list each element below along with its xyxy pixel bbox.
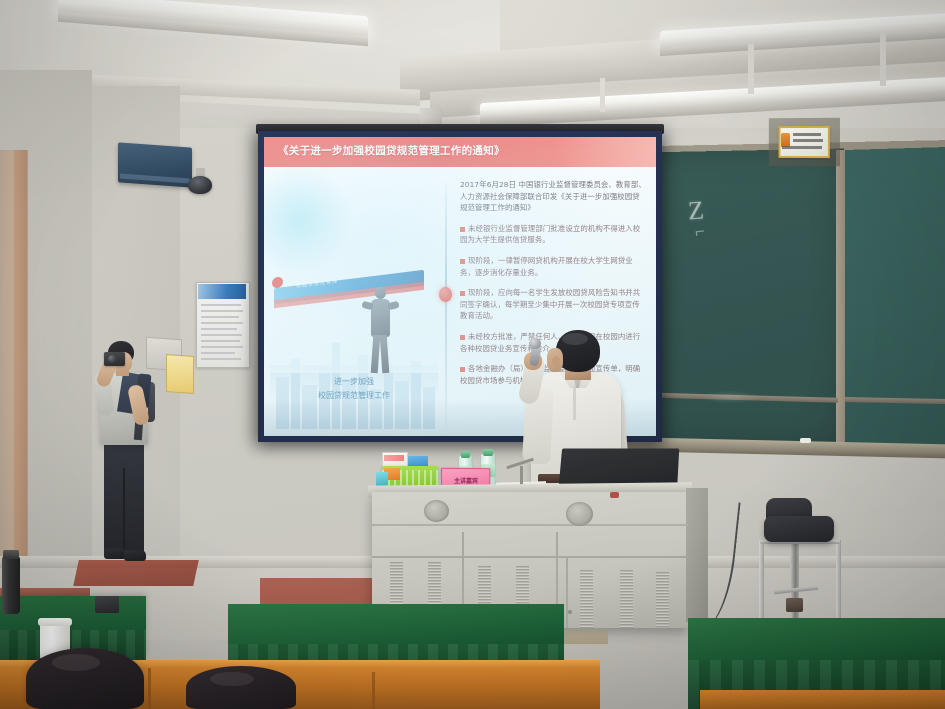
slide-paragraph: 现阶段，一律暂停网贷机构开展在校大学生网贷业务，逐步消化存量业务。 [460,255,646,278]
podium-horizontal-seam [372,556,688,558]
podium-vent [656,572,669,628]
notice-line [201,334,242,336]
silhouette-arm-right [387,301,399,310]
presenter-shirt-placket [573,386,576,420]
caption-line-1: 进一步加强 [284,375,424,389]
paragraph-content: 未经银行业监督管理部门批准设立的机构不得进入校园为大学生提供信贷服务。 [460,224,640,245]
paragraph-text: 未经银行业监督管理部门批准设立的机构不得进入校园为大学生提供信贷服务。 [460,223,646,246]
silhouette-arm-left [361,301,373,310]
slide-paragraph: 未经银行业监督管理部门批准设立的机构不得进入校园为大学生提供信贷服务。 [460,223,646,246]
slide-paragraph: 现阶段，应向每一名学生发放校园贷风险告知书并共同签字确认，每学期至少集中开展一次… [460,287,646,322]
city-fade [270,329,438,373]
notice-line [201,322,243,324]
paragraph-content: 现阶段，应向每一名学生发放校园贷风险告知书并共同签字确认，每学期至少集中开展一次… [460,288,640,320]
photographer-shoe-right [124,550,146,561]
slide-title: 《关于进一步加强校园贷规范管理工作的通知》 [278,143,578,158]
podium-vent [620,570,633,628]
thermos-cap [3,550,19,559]
silhouette-leg-left [371,335,381,373]
notice-line [201,328,237,330]
floor-carpet-left [73,560,199,586]
paragraph-text: 现阶段，应向每一名学生发放校园贷风险告知书并共同签字确认，每学期至少集中开展一次… [460,287,646,322]
stool-rail-right [836,540,841,624]
notice-line [201,358,241,360]
slide-divider-line [445,183,447,427]
photographer-leg-seam [123,468,125,552]
paragraph-text: 现阶段，一律暂停网贷机构开展在校大学生网贷业务，逐步消化存量业务。 [460,255,646,278]
podium-vent [580,570,593,628]
podium-door-seam [566,558,568,628]
chalk-mark-secondary: ⌐ [694,222,706,243]
paper-cup-lid [38,618,72,626]
podium-speaker-right [566,502,593,526]
student-hair-highlight [52,654,100,671]
presenter-hair-highlight [562,333,588,345]
podium-box-label [384,455,404,461]
bench-seam [148,668,151,709]
notice-line [201,316,239,318]
notice-line [201,340,240,342]
bullet-icon [460,291,465,296]
bullet-icon [460,335,465,340]
notice-line [201,304,241,306]
water-bottle-cap [483,449,493,456]
light-hanger-3 [600,78,605,112]
notice-line [201,310,243,312]
chalk-smudge [700,390,760,404]
placard-text-line [793,133,821,136]
dome-camera-icon [188,176,212,194]
light-hanger-2 [880,32,886,86]
placard-text-line [793,139,823,142]
student-hair-highlight [210,672,254,686]
placard-text-line [782,146,822,149]
classroom-photo-scene: Z ⌐ 《关于进一步加强校园贷规范管理工作的通知》 [0,0,945,709]
fire-icon [781,133,790,147]
slide-paragraph: 2017年6月28日 中国银行业监督管理委员会、教育部、人力资源社会保障部联合印… [460,179,646,214]
camera-lens-icon [108,355,116,363]
light-hanger-1 [748,44,754,94]
stool-gas-lift [786,598,803,612]
bullet-icon [460,367,465,372]
chalk-piece [800,438,811,443]
notice-line [201,346,243,348]
person-silhouette [363,287,397,373]
silhouette-leg-right [380,335,390,373]
notice-board-header [198,284,246,299]
podium-speaker-left [424,500,449,522]
wall-poster-small [166,354,194,394]
microphone-head-icon [529,338,541,349]
water-bottle-cap [461,451,470,458]
bar-stool [764,516,834,542]
bullet-icon [460,259,465,264]
notice-line [201,352,235,354]
bench-seam [372,672,375,709]
bench-right [700,690,945,709]
presenter-ear [552,356,560,366]
paragraph-content: 现阶段，一律暂停网贷机构开展在校大学生网贷业务，逐步消化存量业务。 [460,256,633,277]
stool-rail-left [759,540,764,624]
slide-illustration: 校园贷规范管理 进一步加强 校园贷规范管理工作 [270,179,438,429]
silhouette-head [375,287,386,299]
thermos-flask [2,556,20,614]
slide-divider-node [439,287,452,302]
blackboard-right-panel [845,147,945,453]
photographer-shoe-left [104,548,126,559]
dark-cup [95,596,119,613]
paragraph-text: 2017年6月28日 中国银行业监督管理委员会、教育部、人力资源社会保障部联合印… [460,179,646,214]
podium-top-seam [372,524,688,526]
podium-lock [568,610,572,614]
bullet-icon [460,227,465,232]
podium-marker [610,492,619,498]
